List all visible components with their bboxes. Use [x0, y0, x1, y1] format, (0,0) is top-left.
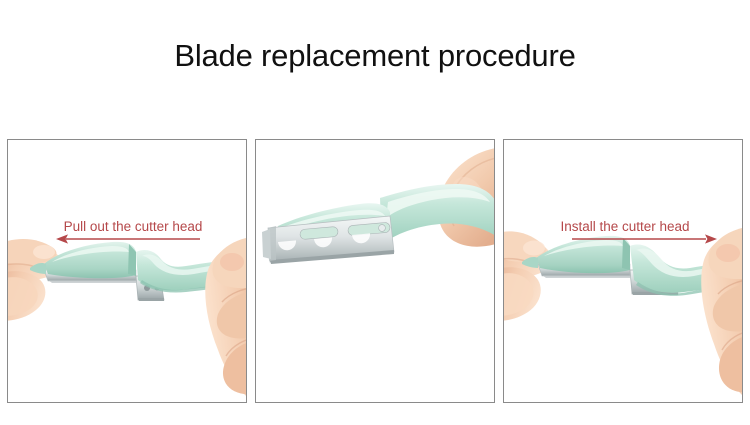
panel-cutter-head [255, 139, 495, 403]
illustration-two-hands-joining-peeler [504, 140, 742, 402]
right-hand [701, 226, 742, 402]
page-title: Blade replacement procedure [0, 36, 750, 76]
caption-install: Install the cutter head [506, 219, 743, 234]
arrow-left-icon [56, 233, 201, 245]
blade-left-tip [262, 229, 271, 259]
caption-pull-out: Pull out the cutter head [14, 219, 247, 234]
panel-install: Install the cutter head [503, 139, 743, 403]
illustration-two-hands-separating-peeler [8, 140, 246, 402]
illustration-hand-holding-detached-cutter-head [256, 140, 494, 402]
right-hand [205, 236, 246, 402]
panel-row: Pull out the cutter head [7, 139, 743, 403]
arrow-right-icon [572, 233, 717, 245]
panel-pull-out: Pull out the cutter head [7, 139, 247, 403]
